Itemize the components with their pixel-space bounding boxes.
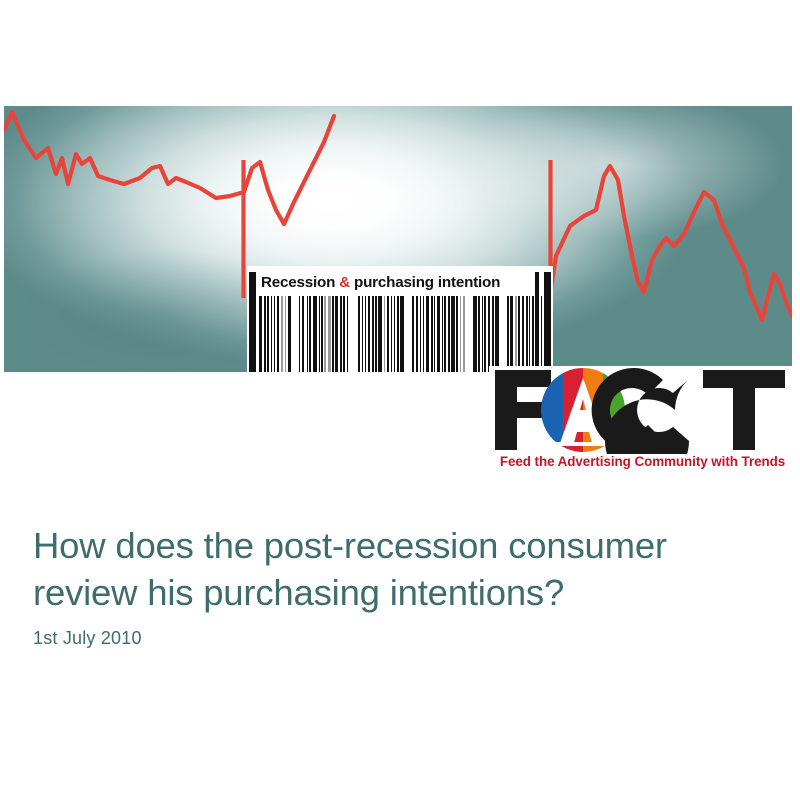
- barcode-caption-part1: Recession: [261, 274, 339, 291]
- barcode-graphic: Recession & purchasing intention: [247, 266, 553, 372]
- barcode-caption-part2: purchasing intention: [350, 274, 500, 291]
- letter-c-icon: [592, 368, 689, 454]
- fact-wordmark: [489, 366, 792, 454]
- presentation-date: 1st July 2010: [33, 628, 142, 649]
- page-title-line-2: review his purchasing intentions?: [33, 569, 763, 616]
- barcode-gap: [542, 296, 543, 372]
- barcode-caption: Recession & purchasing intention: [261, 274, 543, 292]
- barcode-bars: [259, 296, 543, 372]
- fact-logo: Feed the Advertising Community with Tren…: [489, 366, 792, 478]
- fact-tagline: Feed the Advertising Community with Tren…: [493, 454, 792, 469]
- barcode-caption-ampersand: &: [339, 274, 350, 291]
- letter-t-icon: [703, 370, 785, 450]
- banner-image: Recession & purchasing intention: [4, 106, 792, 372]
- barcode-guard-left: [249, 272, 256, 372]
- page-title-line-1: How does the post-recession consumer: [33, 525, 667, 566]
- barcode-guard-right: [544, 272, 551, 372]
- page-title: How does the post-recession consumer rev…: [33, 522, 763, 616]
- slide-canvas: Recession & purchasing intention: [0, 0, 800, 800]
